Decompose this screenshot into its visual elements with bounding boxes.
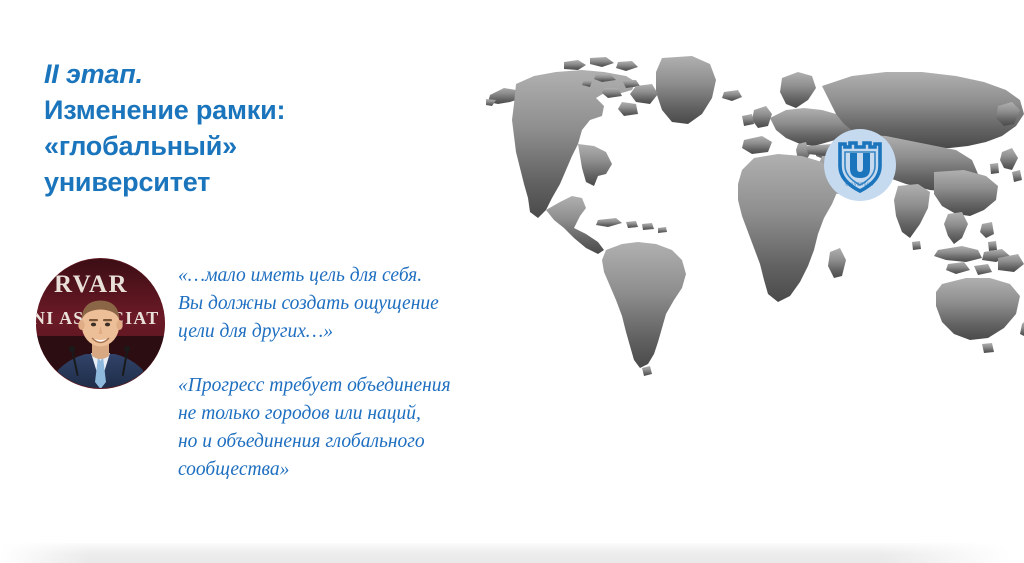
university-logo-badge: UNIVERSITY bbox=[823, 128, 897, 202]
world-map-svg bbox=[486, 52, 1024, 397]
map-landmasses bbox=[486, 56, 1024, 376]
world-map-graphic bbox=[486, 52, 1024, 397]
title-line-3: «глобальный» bbox=[44, 128, 464, 164]
portrait-image: RVAR NI ASSOCIAT bbox=[36, 258, 165, 389]
logo-caption: UNIVERSITY bbox=[845, 182, 874, 187]
slide-bottom-edge-inner bbox=[0, 543, 1024, 563]
page-title: II этап. Изменение рамки: «глобальный» у… bbox=[44, 56, 464, 200]
university-logo-svg: UNIVERSITY bbox=[823, 128, 897, 202]
slide-canvas: II этап. Изменение рамки: «глобальный» у… bbox=[0, 0, 1024, 563]
title-stage-label: II этап. bbox=[44, 56, 464, 92]
title-line-2: Изменение рамки: bbox=[44, 92, 464, 128]
speaker-portrait-avatar: RVAR NI ASSOCIAT bbox=[36, 258, 165, 389]
svg-text:RVAR: RVAR bbox=[54, 271, 128, 298]
slide-bottom-edge bbox=[0, 543, 1024, 563]
title-line-4: университет bbox=[44, 164, 464, 200]
